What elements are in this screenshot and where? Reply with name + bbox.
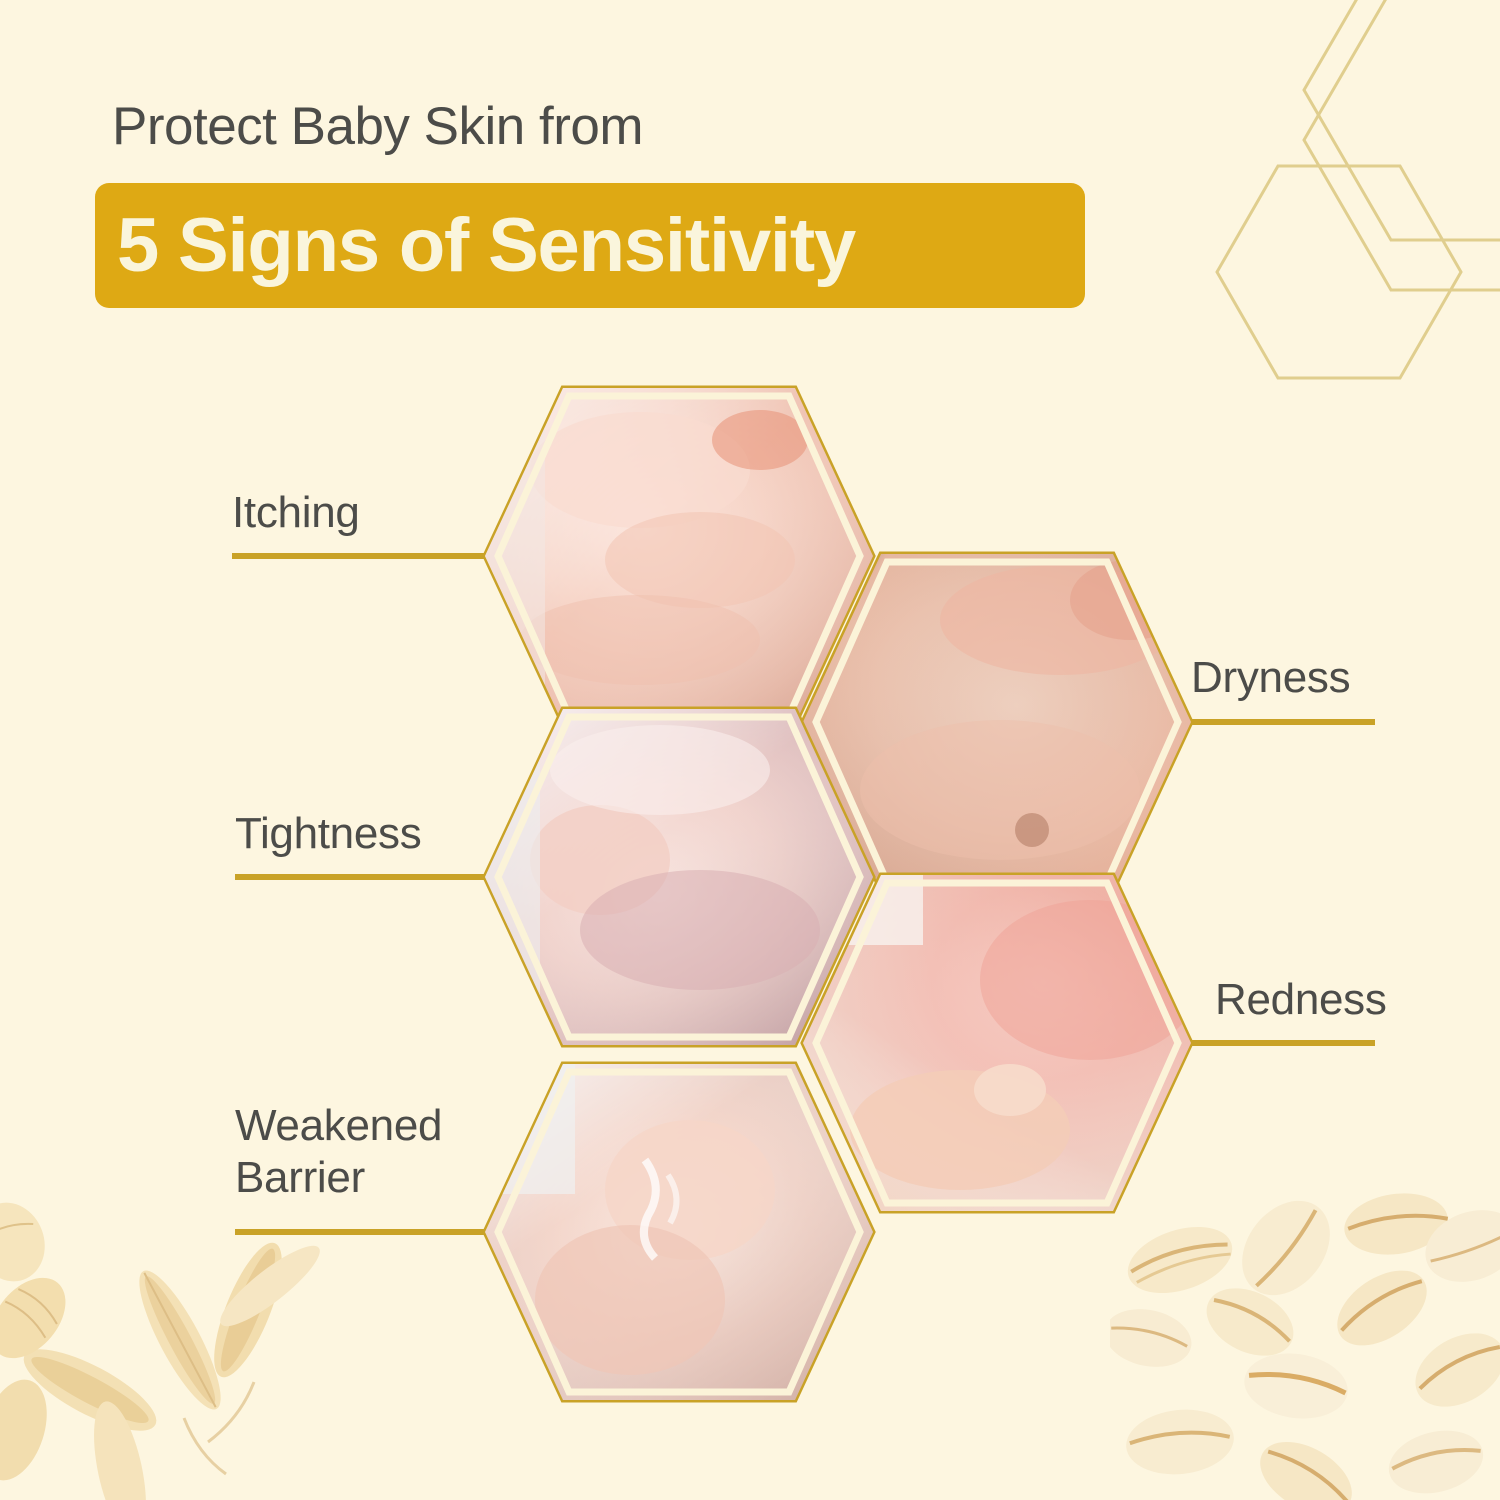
hex-tile-weakened-barrier[interactable] [485,1064,873,1400]
hex-photo-itching [485,388,873,724]
honeycomb-diagram [0,0,1500,1500]
hex-photo-weakened-barrier [485,1064,873,1400]
sign-label-weakened-barrier: Weakened Barrier [235,1100,442,1204]
sign-label-itching: Itching [232,487,360,539]
hex-photo-redness [803,875,1200,1211]
hex-tile-redness[interactable] [803,875,1200,1211]
sign-label-dryness: Dryness [1191,652,1350,704]
hex-tile-dryness[interactable] [803,554,1191,890]
hex-tile-tightness[interactable] [485,709,873,1045]
hex-tile-itching[interactable] [485,388,873,724]
sign-label-redness: Redness [1215,974,1387,1026]
sign-label-tightness: Tightness [235,808,421,860]
infographic-canvas: Protect Baby Skin from 5 Signs of Sensit… [0,0,1500,1500]
hex-photo-dryness [803,554,1191,890]
hex-photo-tightness [485,709,873,1045]
